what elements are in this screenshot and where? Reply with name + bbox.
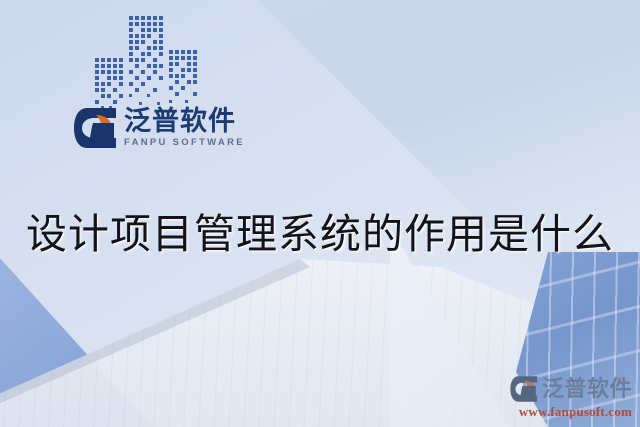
watermark-url: www.fanpusoft.com	[486, 404, 632, 419]
fanpu-logo-mark-icon	[74, 106, 120, 150]
watermark: 泛普软件 www.fanpusoft.com	[486, 375, 632, 419]
banner-headline: 设计项目管理系统的作用是什么	[0, 200, 640, 260]
brand-logo: 泛普软件 FANPU SOFTWARE	[74, 106, 245, 150]
brand-text: 泛普软件 FANPU SOFTWARE	[124, 106, 245, 149]
pixel-building-skyline-icon	[95, 14, 199, 112]
brand-name-cn: 泛普软件	[124, 106, 245, 136]
watermark-brand-name: 泛普软件	[542, 377, 632, 401]
fanpu-watermark-mark-icon	[510, 375, 540, 403]
brand-name-en: FANPU SOFTWARE	[124, 137, 245, 149]
promo-banner: 泛普软件 FANPU SOFTWARE 设计项目管理系统的作用是什么 泛普软件 …	[0, 0, 640, 427]
watermark-brand-row: 泛普软件	[486, 375, 632, 403]
